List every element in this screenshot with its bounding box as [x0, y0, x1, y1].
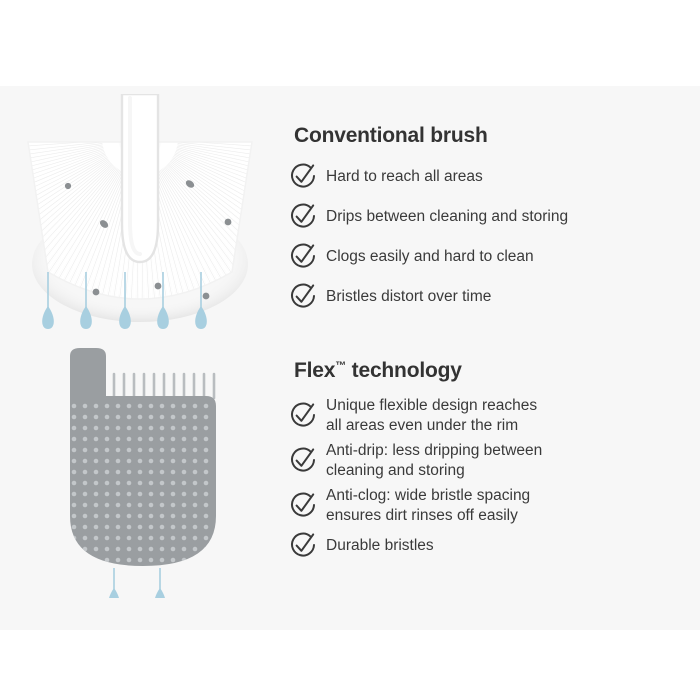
list-item: Clogs easily and hard to clean — [288, 242, 568, 272]
brush-handle — [122, 94, 158, 262]
list-item-label: Clogs easily and hard to clean — [326, 247, 534, 267]
list-item: Durable bristles — [288, 531, 542, 561]
list-item-label: Unique flexible design reaches all areas… — [326, 396, 537, 435]
check-circle-icon — [288, 531, 318, 561]
list-item-label: Drips between cleaning and storing — [326, 207, 568, 227]
list-item-label: Hard to reach all areas — [326, 167, 483, 187]
list-item: Anti-drip: less dripping between cleanin… — [288, 441, 542, 480]
check-circle-icon — [288, 242, 318, 272]
list-item-label: Bristles distort over time — [326, 287, 491, 307]
illustration-column — [0, 86, 280, 630]
conventional-brush-illustration — [10, 94, 270, 344]
content-column: Conventional brush Hard to reach all are… — [288, 86, 700, 630]
section-title-suffix: technology — [346, 359, 462, 382]
list-item: Hard to reach all areas — [288, 162, 568, 192]
section-title-text: Flex — [294, 359, 335, 382]
page-title-conventional: Conventional brush — [294, 124, 488, 148]
list-item-label: Durable bristles — [326, 536, 434, 556]
check-circle-icon — [288, 282, 318, 312]
check-circle-icon — [288, 401, 318, 431]
list-item: Anti-clog: wide bristle spacing ensures … — [288, 486, 542, 525]
feature-list-flex: Unique flexible design reaches all areas… — [288, 396, 542, 567]
list-item: Bristles distort over time — [288, 282, 568, 312]
list-item: Drips between cleaning and storing — [288, 202, 568, 232]
check-circle-icon — [288, 446, 318, 476]
water-drips — [108, 568, 166, 598]
comb-teeth — [114, 374, 214, 398]
page-title-flex: Flex™ technology — [294, 359, 462, 383]
flex-brush-illustration — [10, 348, 270, 598]
list-item: Unique flexible design reaches all areas… — [288, 396, 542, 435]
list-item-label: Anti-drip: less dripping between cleanin… — [326, 441, 542, 480]
check-circle-icon — [288, 491, 318, 521]
list-item-label: Anti-clog: wide bristle spacing ensures … — [326, 486, 530, 525]
section-title-text: Conventional brush — [294, 124, 488, 147]
check-circle-icon — [288, 162, 318, 192]
trademark-symbol: ™ — [335, 360, 346, 372]
feature-list-conventional: Hard to reach all areasDrips between cle… — [288, 162, 568, 322]
check-circle-icon — [288, 202, 318, 232]
